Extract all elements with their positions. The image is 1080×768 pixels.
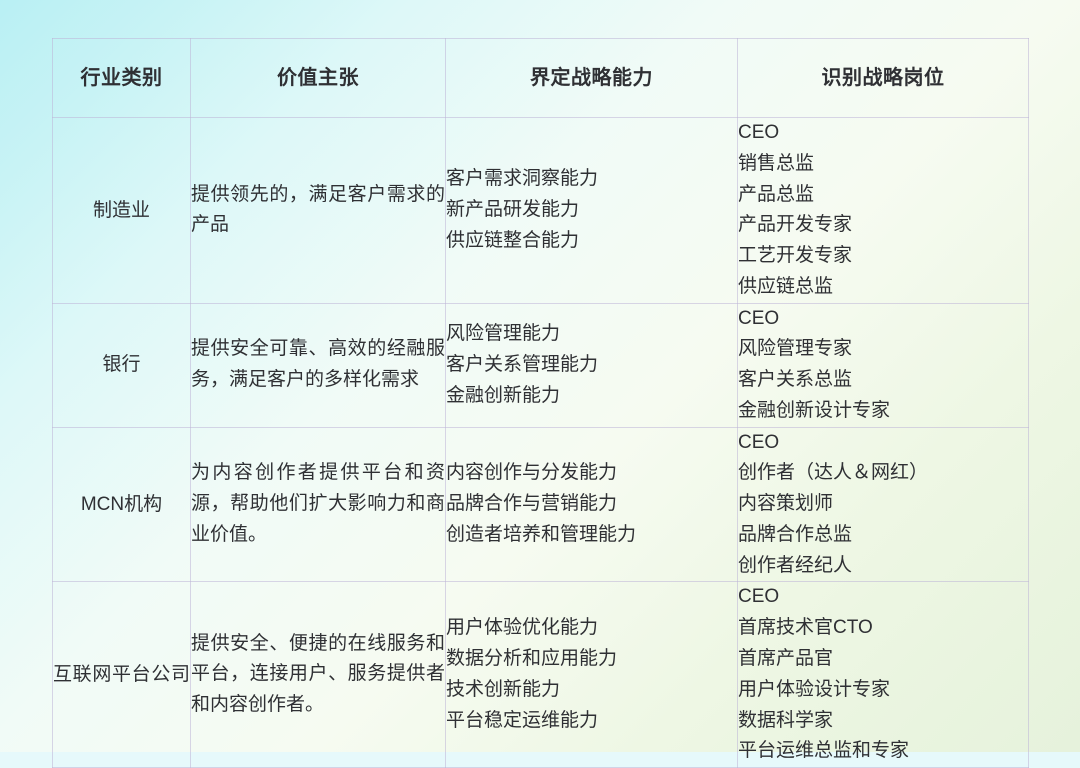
list-item: 内容创作与分发能力 bbox=[446, 458, 737, 489]
list-item: 内容策划师 bbox=[738, 489, 1028, 520]
list-item: 创造者培养和管理能力 bbox=[446, 520, 737, 551]
cell-value-proposition: 提供领先的，满足客户需求的产品 bbox=[191, 118, 446, 304]
list-item: 销售总监 bbox=[738, 149, 1028, 180]
list-item: 品牌合作总监 bbox=[738, 520, 1028, 551]
list-item: 品牌合作与营销能力 bbox=[446, 489, 737, 520]
column-header-strategic-capability-label: 界定战略能力 bbox=[446, 66, 737, 90]
capability-list: 风险管理能力 客户关系管理能力 金融创新能力 bbox=[446, 319, 737, 411]
cell-strategic-capability: 用户体验优化能力 数据分析和应用能力 技术创新能力 平台稳定运维能力 bbox=[446, 582, 738, 768]
list-item: 首席产品官 bbox=[738, 644, 1028, 675]
list-item: 创作者（达人＆网红） bbox=[738, 458, 1028, 489]
column-header-value-proposition-label: 价值主张 bbox=[191, 66, 445, 90]
list-item: 新产品研发能力 bbox=[446, 195, 737, 226]
list-item: 金融创新能力 bbox=[446, 381, 737, 412]
industry-category-label: 银行 bbox=[53, 351, 190, 379]
list-item: 客户关系总监 bbox=[738, 365, 1028, 396]
list-item: 风险管理能力 bbox=[446, 319, 737, 350]
list-item: 金融创新设计专家 bbox=[738, 396, 1028, 427]
table-row: 银行 提供安全可靠、高效的经融服务，满足客户的多样化需求 风险管理能力 客户关系… bbox=[53, 303, 1029, 427]
cell-value-proposition: 提供安全、便捷的在线服务和平台，连接用户、服务提供者和内容创作者。 bbox=[191, 582, 446, 768]
list-item: CEO bbox=[738, 118, 1028, 149]
table-row: 制造业 提供领先的，满足客户需求的产品 客户需求洞察能力 新产品研发能力 供应链… bbox=[53, 118, 1029, 304]
cell-industry-category: MCN机构 bbox=[53, 427, 191, 582]
list-item: 用户体验设计专家 bbox=[738, 675, 1028, 706]
list-item: 平台稳定运维能力 bbox=[446, 706, 737, 737]
cell-strategic-roles: CEO 首席技术官CTO 首席产品官 用户体验设计专家 数据科学家 平台运维总监… bbox=[738, 582, 1029, 768]
list-item: 客户需求洞察能力 bbox=[446, 164, 737, 195]
cell-industry-category: 银行 bbox=[53, 303, 191, 427]
value-proposition-text: 为内容创作者提供平台和资源，帮助他们扩大影响力和商业价值。 bbox=[191, 458, 445, 550]
list-item: 风险管理专家 bbox=[738, 334, 1028, 365]
cell-strategic-roles: CEO 创作者（达人＆网红） 内容策划师 品牌合作总监 创作者经纪人 bbox=[738, 427, 1029, 582]
page-background: 行业类别 价值主张 界定战略能力 识别战略岗位 bbox=[0, 0, 1080, 752]
cell-strategic-capability: 客户需求洞察能力 新产品研发能力 供应链整合能力 bbox=[446, 118, 738, 304]
list-item: 首席技术官CTO bbox=[738, 613, 1028, 644]
value-proposition-text: 提供安全、便捷的在线服务和平台，连接用户、服务提供者和内容创作者。 bbox=[191, 629, 445, 721]
cell-value-proposition: 提供安全可靠、高效的经融服务，满足客户的多样化需求 bbox=[191, 303, 446, 427]
table-row: 互联网平台公司 提供安全、便捷的在线服务和平台，连接用户、服务提供者和内容创作者… bbox=[53, 582, 1029, 768]
column-header-industry-category: 行业类别 bbox=[53, 39, 191, 118]
cell-strategic-roles: CEO 销售总监 产品总监 产品开发专家 工艺开发专家 供应链总监 bbox=[738, 118, 1029, 304]
role-list: CEO 首席技术官CTO 首席产品官 用户体验设计专家 数据科学家 平台运维总监… bbox=[738, 582, 1028, 767]
cell-strategic-roles: CEO 风险管理专家 客户关系总监 金融创新设计专家 bbox=[738, 303, 1029, 427]
list-item: 供应链整合能力 bbox=[446, 226, 737, 257]
capability-list: 内容创作与分发能力 品牌合作与营销能力 创造者培养和管理能力 bbox=[446, 458, 737, 550]
value-proposition-text: 提供领先的，满足客户需求的产品 bbox=[191, 180, 445, 242]
column-header-industry-category-label: 行业类别 bbox=[53, 66, 190, 90]
list-item: 数据分析和应用能力 bbox=[446, 644, 737, 675]
role-list: CEO 创作者（达人＆网红） 内容策划师 品牌合作总监 创作者经纪人 bbox=[738, 428, 1028, 582]
cell-strategic-capability: 内容创作与分发能力 品牌合作与营销能力 创造者培养和管理能力 bbox=[446, 427, 738, 582]
header-row: 行业类别 价值主张 界定战略能力 识别战略岗位 bbox=[53, 39, 1029, 118]
strategy-table: 行业类别 价值主张 界定战略能力 识别战略岗位 bbox=[52, 38, 1029, 768]
cell-value-proposition: 为内容创作者提供平台和资源，帮助他们扩大影响力和商业价值。 bbox=[191, 427, 446, 582]
industry-category-label: MCN机构 bbox=[53, 491, 190, 519]
list-item: 用户体验优化能力 bbox=[446, 613, 737, 644]
column-header-strategic-roles-label: 识别战略岗位 bbox=[738, 66, 1028, 90]
value-proposition-text: 提供安全可靠、高效的经融服务，满足客户的多样化需求 bbox=[191, 334, 445, 396]
list-item: 供应链总监 bbox=[738, 272, 1028, 303]
list-item: CEO bbox=[738, 304, 1028, 335]
role-list: CEO 风险管理专家 客户关系总监 金融创新设计专家 bbox=[738, 304, 1028, 427]
capability-list: 用户体验优化能力 数据分析和应用能力 技术创新能力 平台稳定运维能力 bbox=[446, 613, 737, 736]
role-list: CEO 销售总监 产品总监 产品开发专家 工艺开发专家 供应链总监 bbox=[738, 118, 1028, 303]
industry-category-label: 互联网平台公司 bbox=[53, 661, 190, 689]
list-item: 创作者经纪人 bbox=[738, 551, 1028, 582]
list-item: CEO bbox=[738, 428, 1028, 459]
cell-industry-category: 制造业 bbox=[53, 118, 191, 304]
column-header-strategic-capability: 界定战略能力 bbox=[446, 39, 738, 118]
list-item: 技术创新能力 bbox=[446, 675, 737, 706]
list-item: 客户关系管理能力 bbox=[446, 350, 737, 381]
table-row: MCN机构 为内容创作者提供平台和资源，帮助他们扩大影响力和商业价值。 内容创作… bbox=[53, 427, 1029, 582]
capability-list: 客户需求洞察能力 新产品研发能力 供应链整合能力 bbox=[446, 164, 737, 256]
industry-category-label: 制造业 bbox=[53, 197, 190, 225]
cell-industry-category: 互联网平台公司 bbox=[53, 582, 191, 768]
column-header-strategic-roles: 识别战略岗位 bbox=[738, 39, 1029, 118]
column-header-value-proposition: 价值主张 bbox=[191, 39, 446, 118]
list-item: CEO bbox=[738, 582, 1028, 613]
strategy-table-container: 行业类别 价值主张 界定战略能力 识别战略岗位 bbox=[52, 38, 1028, 714]
list-item: 产品总监 bbox=[738, 180, 1028, 211]
table-header: 行业类别 价值主张 界定战略能力 识别战略岗位 bbox=[53, 39, 1029, 118]
list-item: 工艺开发专家 bbox=[738, 241, 1028, 272]
table-body: 制造业 提供领先的，满足客户需求的产品 客户需求洞察能力 新产品研发能力 供应链… bbox=[53, 118, 1029, 768]
list-item: 数据科学家 bbox=[738, 706, 1028, 737]
list-item: 产品开发专家 bbox=[738, 210, 1028, 241]
cell-strategic-capability: 风险管理能力 客户关系管理能力 金融创新能力 bbox=[446, 303, 738, 427]
